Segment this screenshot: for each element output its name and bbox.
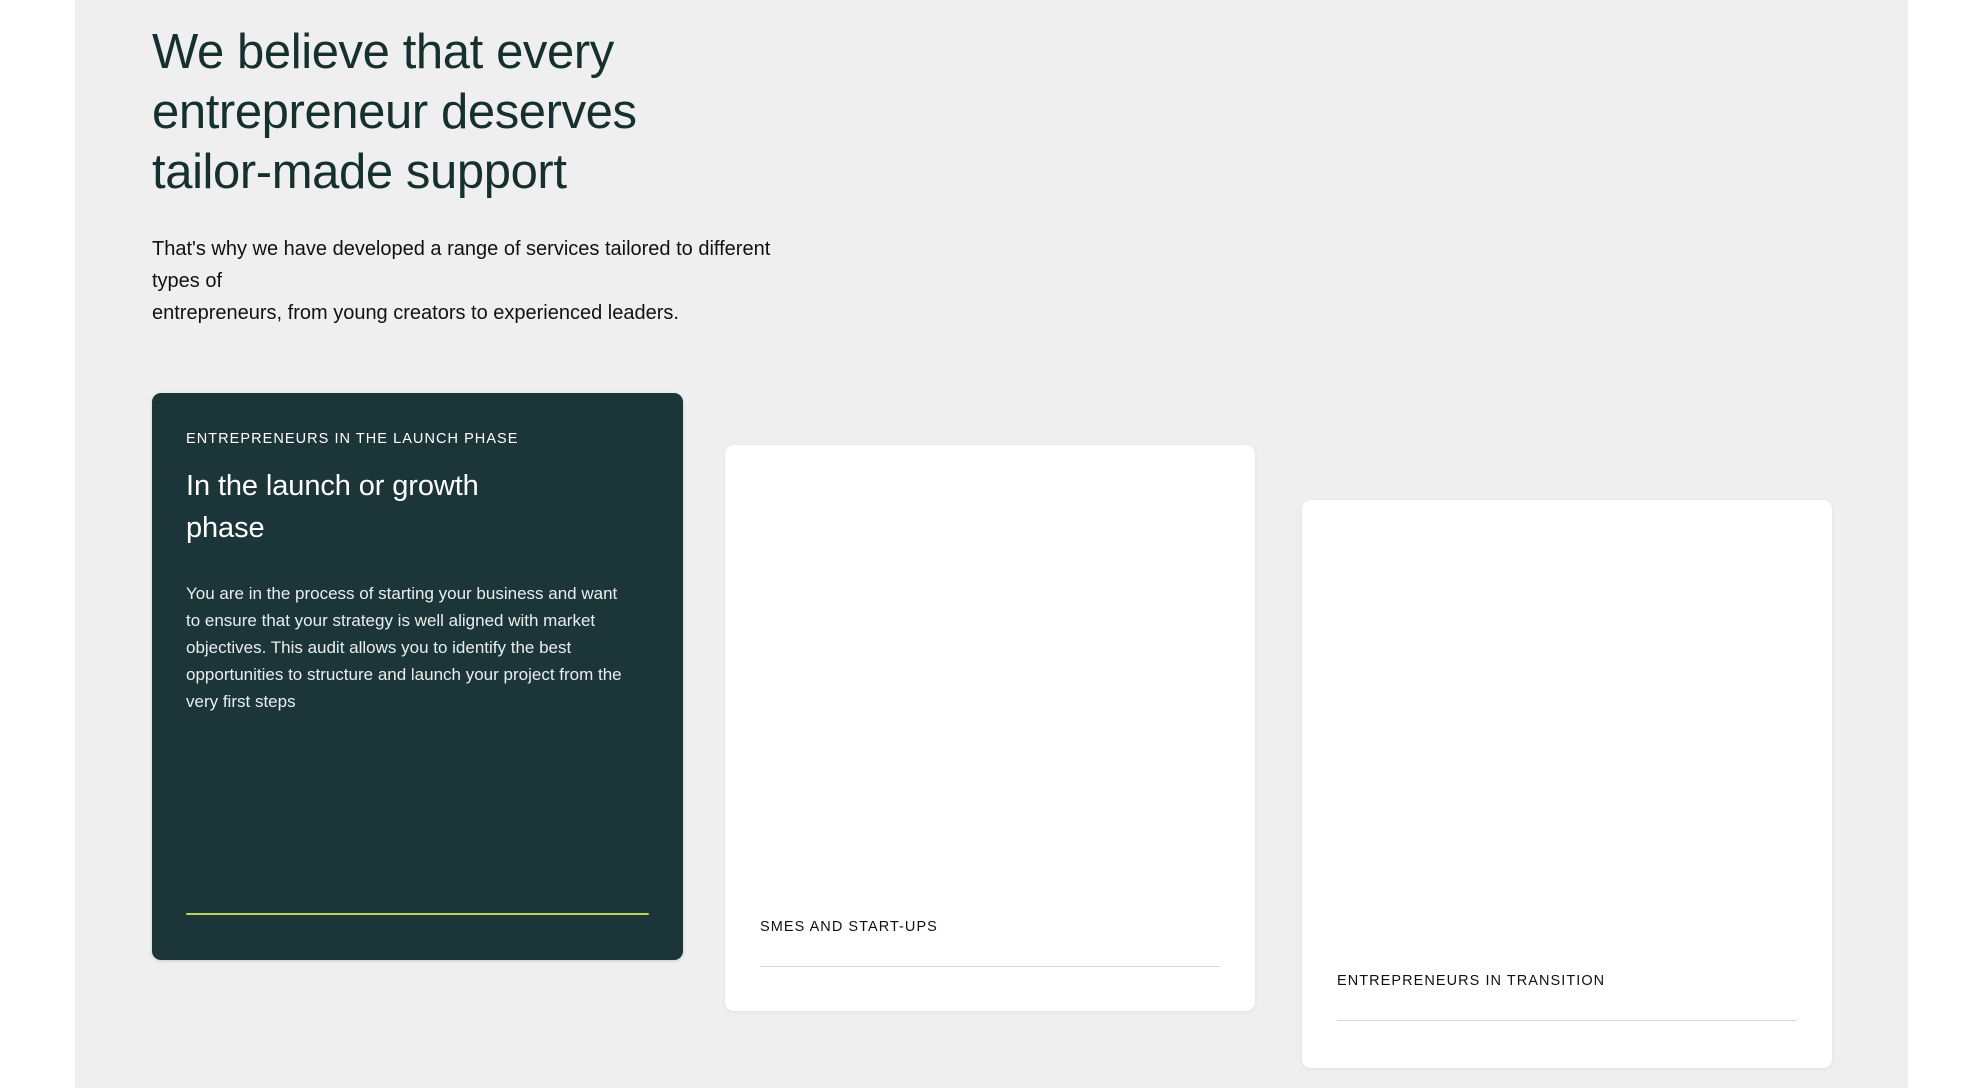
services-section-panel: We believe that every entrepreneur deser… bbox=[75, 0, 1908, 1088]
card-divider bbox=[1337, 1020, 1797, 1021]
card-eyebrow-label: ENTREPRENEURS IN TRANSITION bbox=[1337, 971, 1797, 991]
card-accent-rule bbox=[186, 913, 649, 915]
service-card-smes-and-start-ups[interactable]: SMES AND START-UPS bbox=[725, 445, 1255, 1011]
page-root: We believe that every entrepreneur deser… bbox=[0, 0, 1982, 1088]
page-title: We believe that every entrepreneur deser… bbox=[152, 22, 972, 202]
service-card-entrepreneurs-in-transition[interactable]: ENTREPRENEURS IN TRANSITION bbox=[1302, 500, 1832, 1068]
card-footer: ENTREPRENEURS IN TRANSITION bbox=[1337, 971, 1797, 1021]
card-eyebrow-label: SMES AND START-UPS bbox=[760, 917, 1220, 937]
card-title: In the launch or growth phase bbox=[186, 449, 649, 549]
section-intro: We believe that every entrepreneur deser… bbox=[152, 22, 972, 329]
card-body-text: You are in the process of starting your … bbox=[186, 549, 631, 715]
card-divider bbox=[760, 966, 1220, 967]
card-footer: SMES AND START-UPS bbox=[760, 917, 1220, 967]
card-eyebrow-label: ENTREPRENEURS IN THE LAUNCH PHASE bbox=[186, 429, 649, 449]
section-subtitle: That's why we have developed a range of … bbox=[152, 202, 792, 329]
service-card-launch-phase[interactable]: ENTREPRENEURS IN THE LAUNCH PHASE In the… bbox=[152, 393, 683, 960]
